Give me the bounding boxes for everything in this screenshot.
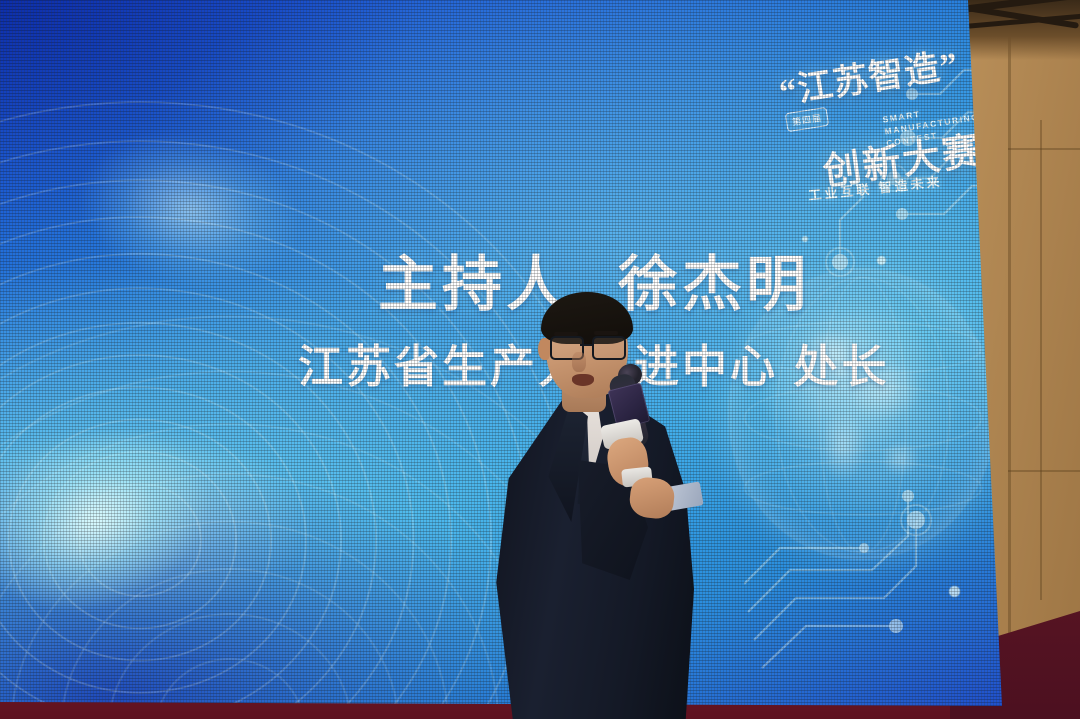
speaker-eyebrow [594,331,618,335]
glasses-icon [548,336,628,358]
wall-seam [1008,0,1011,719]
wall-seam [1008,470,1080,472]
screenshot-root: 主持人徐杰明 江苏省生产力促进中心 处长 “江苏智造” SMART MANUFA… [0,0,1080,719]
event-logo: “江苏智造” SMART MANUFACTURING CONTEST 第四届 创… [760,48,990,208]
circuit-node-dot [877,256,886,265]
wall-seam [1008,148,1080,150]
logo-title-cn: “江苏智造” [775,36,962,115]
circuit-node-dot [949,586,960,597]
speaker-nose [572,352,586,372]
glasses-lens-right [592,336,626,360]
speaker-mouth [572,374,594,386]
speaker-figure [466,290,716,719]
wall-seam [1040,120,1042,600]
glasses-bridge [580,344,594,346]
